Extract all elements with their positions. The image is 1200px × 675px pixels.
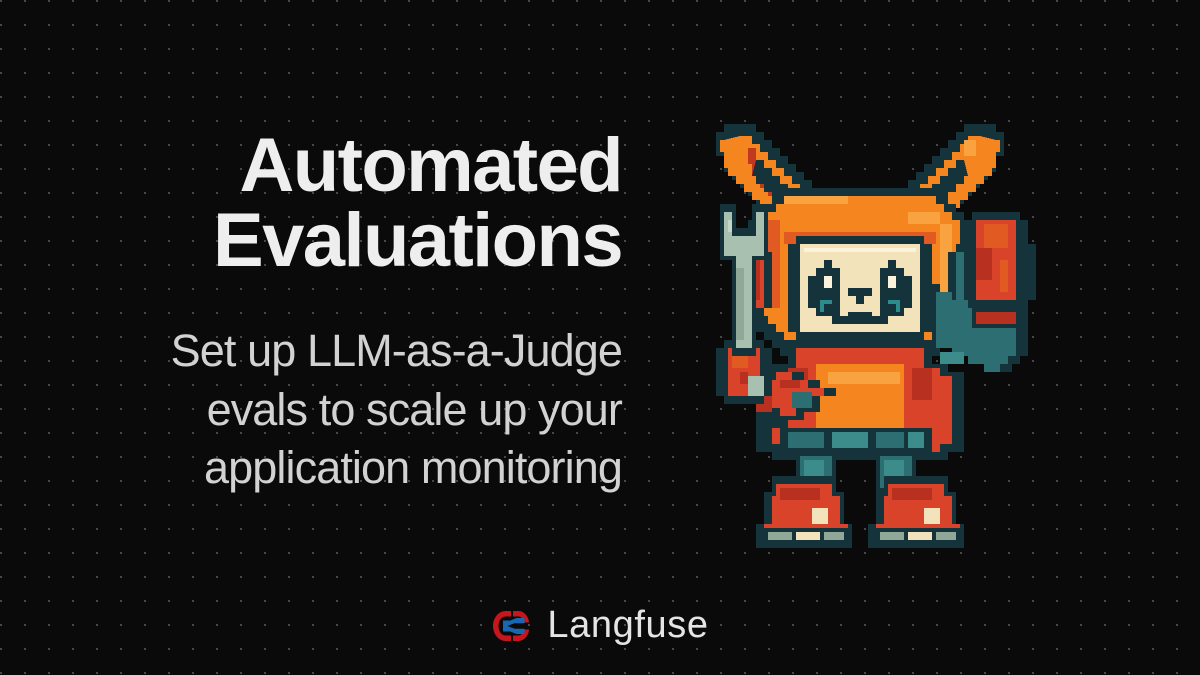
page-subtitle: Set up LLM-as-a-Judge evals to scale up …: [0, 322, 622, 498]
brand-lockup: Langfuse: [0, 604, 1200, 647]
page-title: Automated Evaluations: [0, 128, 622, 278]
brand-wordmark: Langfuse: [547, 604, 708, 647]
banner-canvas: Automated Evaluations Set up LLM-as-a-Ju…: [0, 0, 1200, 675]
langfuse-logo-icon: [491, 609, 531, 643]
hero-text-block: Automated Evaluations Set up LLM-as-a-Ju…: [0, 128, 624, 498]
pixel-art-astronaut-cat-mascot-icon: [684, 116, 1036, 556]
